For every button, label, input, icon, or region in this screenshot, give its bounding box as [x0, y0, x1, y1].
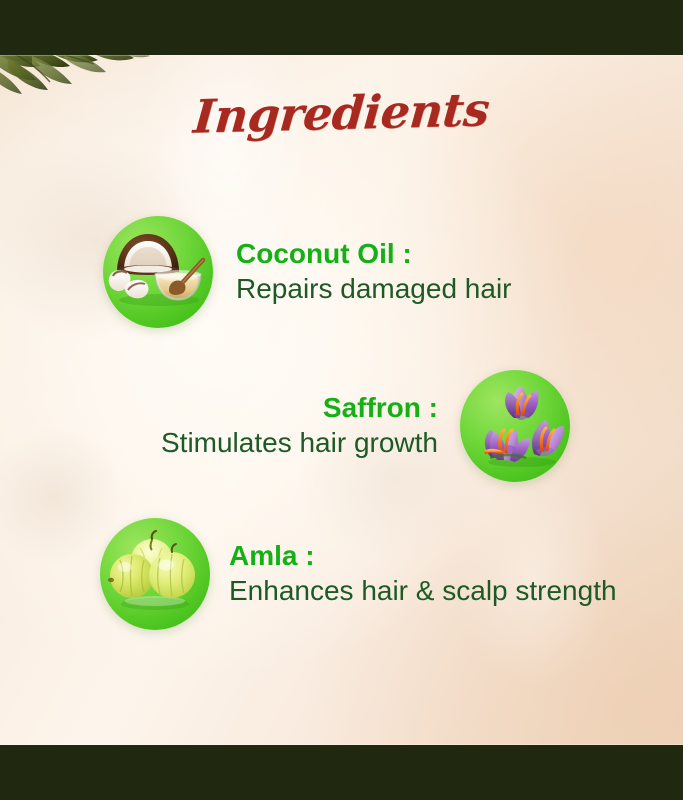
page-title-text: Ingredients — [192, 82, 492, 143]
ingredient-text-saffron: Saffron : Stimulates hair growth — [161, 392, 438, 460]
ingredient-text-amla: Amla : Enhances hair & scalp strength — [229, 540, 617, 608]
ingredient-description: Repairs damaged hair — [236, 272, 512, 306]
ingredient-row-saffron: Saffron : Stimulates hair growth — [97, 370, 570, 482]
top-dark-bar — [0, 0, 683, 55]
coconut-oil-icon — [103, 216, 213, 328]
saffron-flower-icon — [460, 370, 570, 482]
ingredient-row-amla: Amla : Enhances hair & scalp strength — [100, 518, 617, 630]
ingredient-name: Amla : — [229, 540, 315, 572]
ingredient-description: Enhances hair & scalp strength — [229, 574, 617, 608]
ingredient-name: Coconut Oil : — [236, 238, 412, 270]
ingredients-poster: Ingredients — [0, 0, 683, 800]
ingredient-description: Stimulates hair growth — [161, 426, 438, 460]
ingredient-name: Saffron : — [323, 392, 438, 424]
bottom-dark-bar — [0, 745, 683, 800]
amla-fruit-icon — [100, 518, 210, 630]
ingredient-row-coconut-oil: Coconut Oil : Repairs damaged hair — [103, 216, 512, 328]
ingredient-text-coconut-oil: Coconut Oil : Repairs damaged hair — [236, 238, 512, 306]
